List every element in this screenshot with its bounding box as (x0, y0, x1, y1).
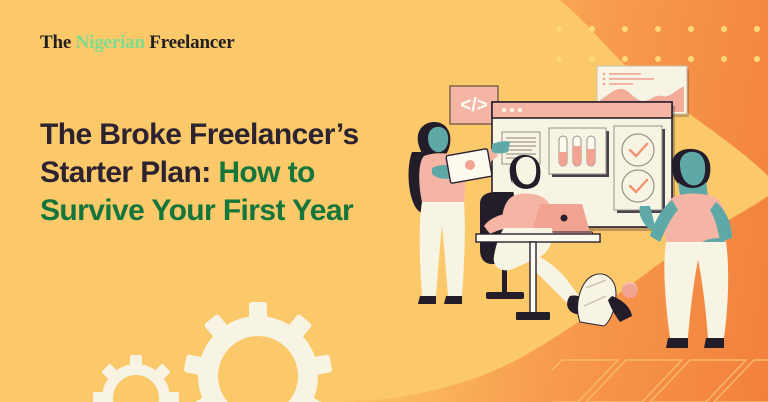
window-dots (502, 108, 522, 112)
bar (559, 136, 567, 166)
code-badge-icon: </> (450, 86, 498, 124)
checklist-card (614, 126, 665, 213)
dot (754, 26, 760, 32)
dot (622, 26, 628, 32)
dot (655, 26, 661, 32)
dot (688, 26, 694, 32)
dog-with-ball (578, 274, 638, 326)
dot (589, 26, 595, 32)
svg-text:</>: </> (460, 95, 487, 116)
bar-chart-card (549, 128, 609, 177)
dot (721, 26, 727, 32)
gears-decoration (86, 280, 366, 402)
hero-illustration: </> (404, 56, 768, 376)
logo-text-part2: Freelancer (145, 32, 235, 53)
page-title: The Broke Freelancer’s Starter Plan: How… (40, 116, 420, 230)
logo-text-highlight: Nigerian (76, 32, 145, 53)
blog-banner: The Nigerian Freelancer The Broke Freela… (0, 0, 768, 402)
site-logo[interactable]: The Nigerian Freelancer (40, 32, 235, 54)
bar (587, 136, 595, 166)
dot (556, 26, 562, 32)
bar (573, 136, 581, 166)
logo-text-part1: The (40, 32, 76, 53)
